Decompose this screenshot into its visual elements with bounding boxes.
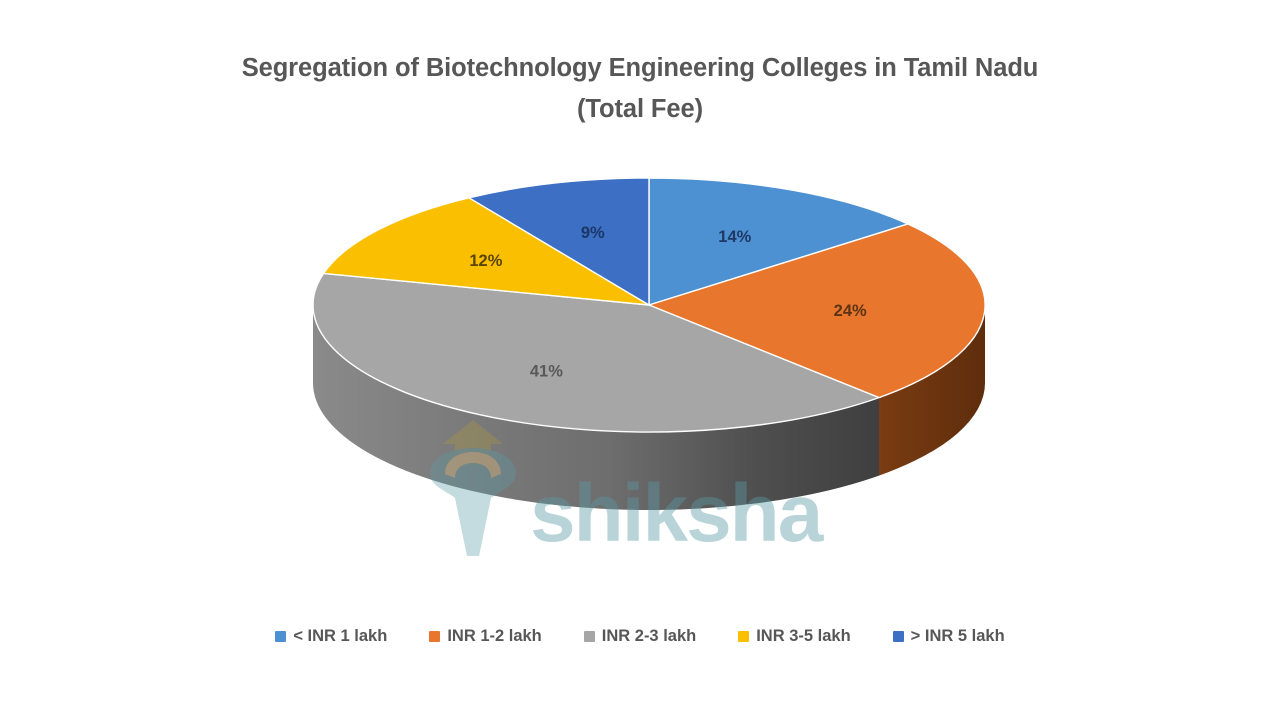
chart-title-line-2: (Total Fee): [0, 89, 1280, 130]
legend-item-inr-3-5-lakh[interactable]: INR 3-5 lakh: [738, 627, 850, 646]
legend-item-lt-inr-1-lakh[interactable]: < INR 1 lakh: [275, 627, 387, 646]
legend-label: INR 1-2 lakh: [447, 627, 541, 646]
page-title: Segregation of Biotechnology Engineering…: [0, 48, 1280, 130]
shiksha-watermark: shiksha: [415, 378, 865, 568]
chart-legend: < INR 1 lakh INR 1-2 lakh INR 2-3 lakh I…: [0, 627, 1280, 646]
pie-plot-area: 14% 24% 41% 12% 9% shiksha: [0, 150, 1280, 600]
legend-swatch-icon: [738, 631, 749, 642]
legend-item-inr-2-3-lakh[interactable]: INR 2-3 lakh: [584, 627, 696, 646]
cap-tassel-shape: [430, 448, 516, 556]
watermark-label: shiksha: [530, 473, 821, 555]
legend-label: > INR 5 lakh: [911, 627, 1005, 646]
chart-title-line-1: Segregation of Biotechnology Engineering…: [0, 48, 1280, 89]
pie-label-gt-inr-5-lakh: 9%: [581, 224, 605, 242]
legend-label: INR 3-5 lakh: [756, 627, 850, 646]
pie-label-inr-1-2-lakh: 24%: [834, 302, 867, 320]
pie-chart-figure: Segregation of Biotechnology Engineering…: [0, 0, 1280, 720]
legend-swatch-icon: [429, 631, 440, 642]
legend-swatch-icon: [275, 631, 286, 642]
pie-label-inr-3-5-lakh: 12%: [469, 252, 502, 270]
legend-label: < INR 1 lakh: [293, 627, 387, 646]
legend-item-inr-1-2-lakh[interactable]: INR 1-2 lakh: [429, 627, 541, 646]
legend-swatch-icon: [584, 631, 595, 642]
pie-label-lt-inr-1-lakh: 14%: [718, 228, 751, 246]
legend-swatch-icon: [893, 631, 904, 642]
legend-item-gt-inr-5-lakh[interactable]: > INR 5 lakh: [893, 627, 1005, 646]
legend-label: INR 2-3 lakh: [602, 627, 696, 646]
